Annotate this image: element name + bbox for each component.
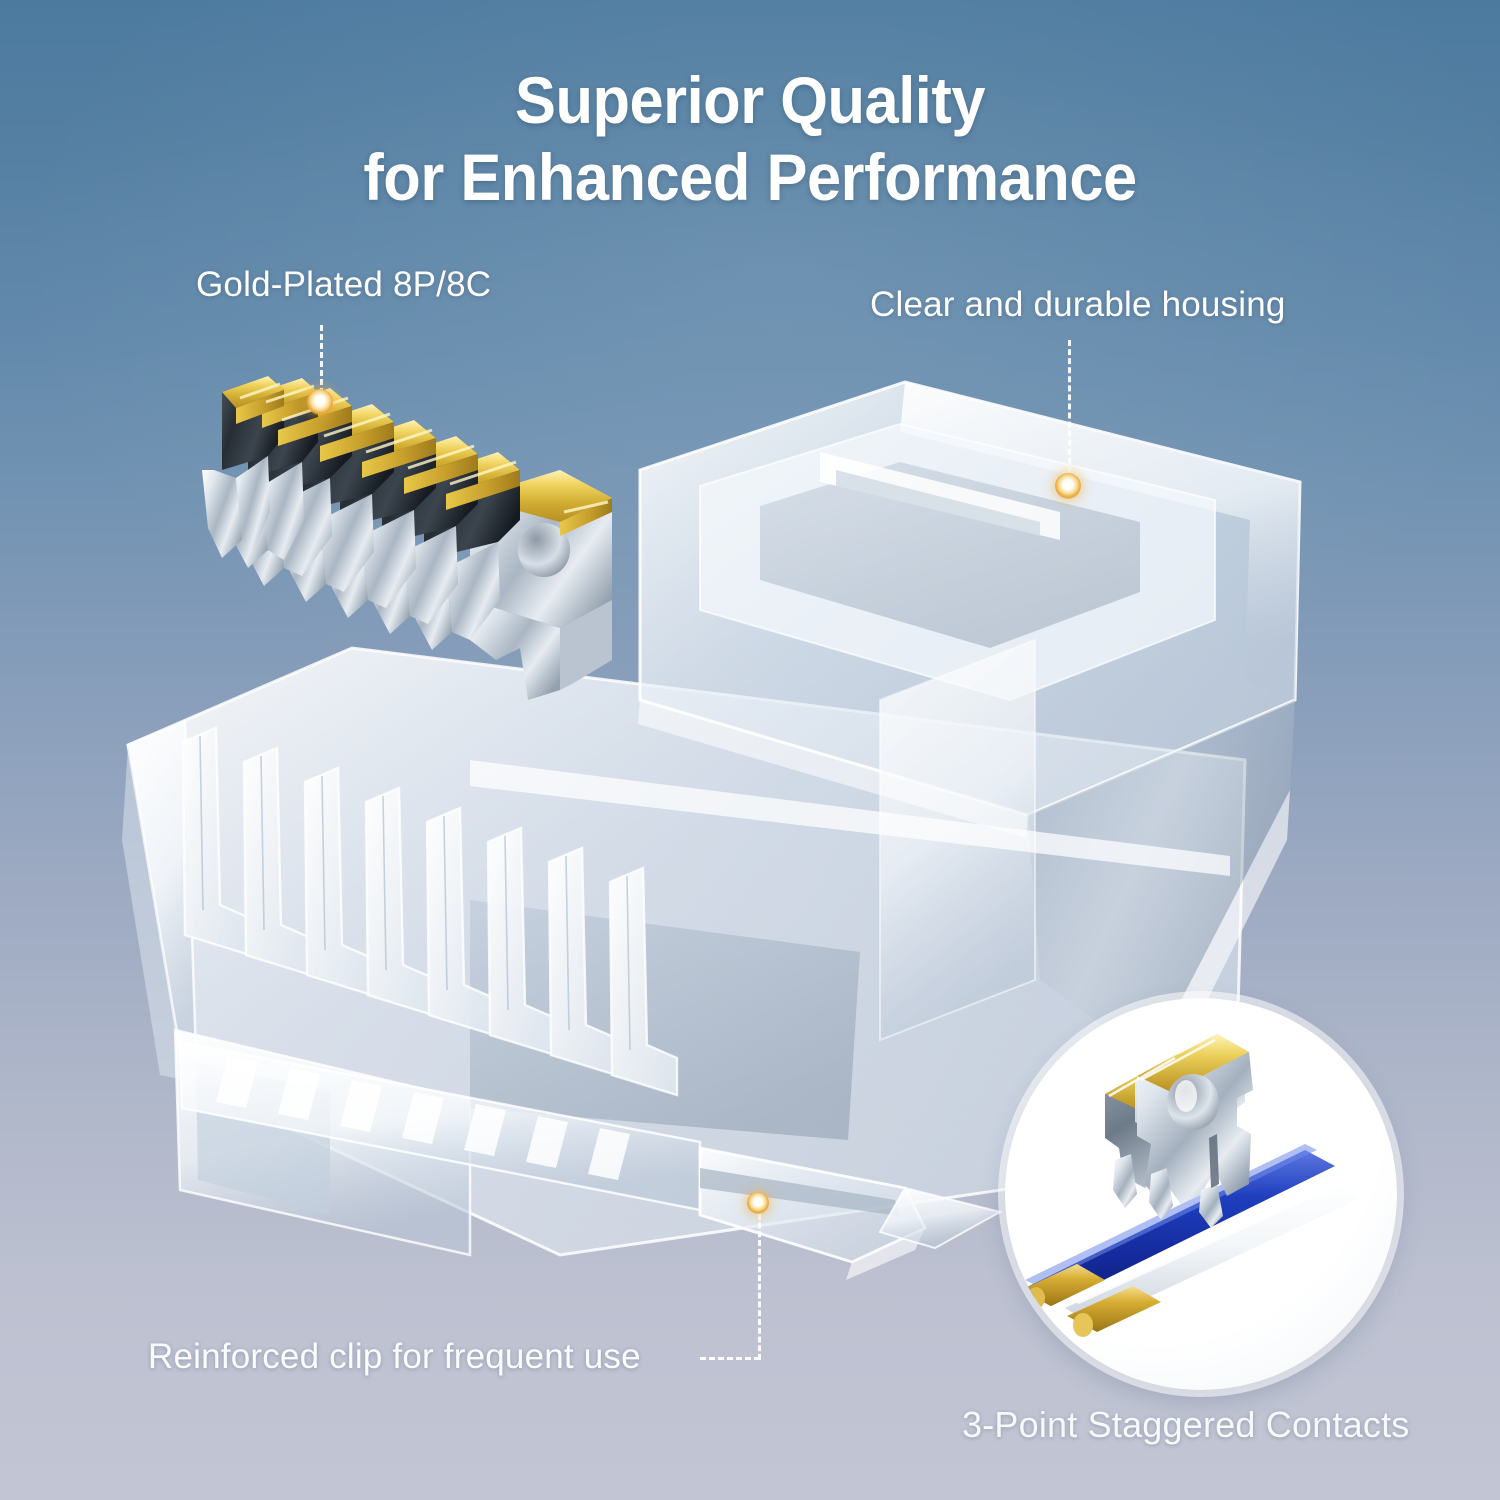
inset-contact-detail-art (1005, 998, 1397, 1390)
callout-label-clear-housing: Clear and durable housing (870, 285, 1286, 325)
callout-label-reinforced-clip: Reinforced clip for frequent use (148, 1337, 641, 1377)
marker-dot-reinforced-clip (747, 1192, 769, 1214)
leader-line-clear-housing (1068, 340, 1071, 482)
callout-label-gold-plated: Gold-Plated 8P/8C (196, 265, 491, 305)
page-title: Superior Quality for Enhanced Performanc… (53, 62, 1448, 215)
leader-line-reinforced-clip-vertical (758, 1205, 761, 1360)
reinforced-latch-clip (700, 1148, 1000, 1280)
leader-line-reinforced-clip-horizontal (700, 1357, 760, 1360)
contact-pin-array (202, 376, 612, 700)
product-infographic: Superior Quality for Enhanced Performanc… (0, 0, 1500, 1500)
inset-detail-circle (1005, 998, 1397, 1390)
marker-dot-clear-housing (1055, 473, 1081, 499)
callout-label-staggered-contacts: 3-Point Staggered Contacts (962, 1404, 1409, 1446)
wire-channel-guides (183, 728, 677, 1095)
strain-relief-bar (180, 1042, 700, 1210)
marker-dot-gold-plated (307, 389, 333, 415)
